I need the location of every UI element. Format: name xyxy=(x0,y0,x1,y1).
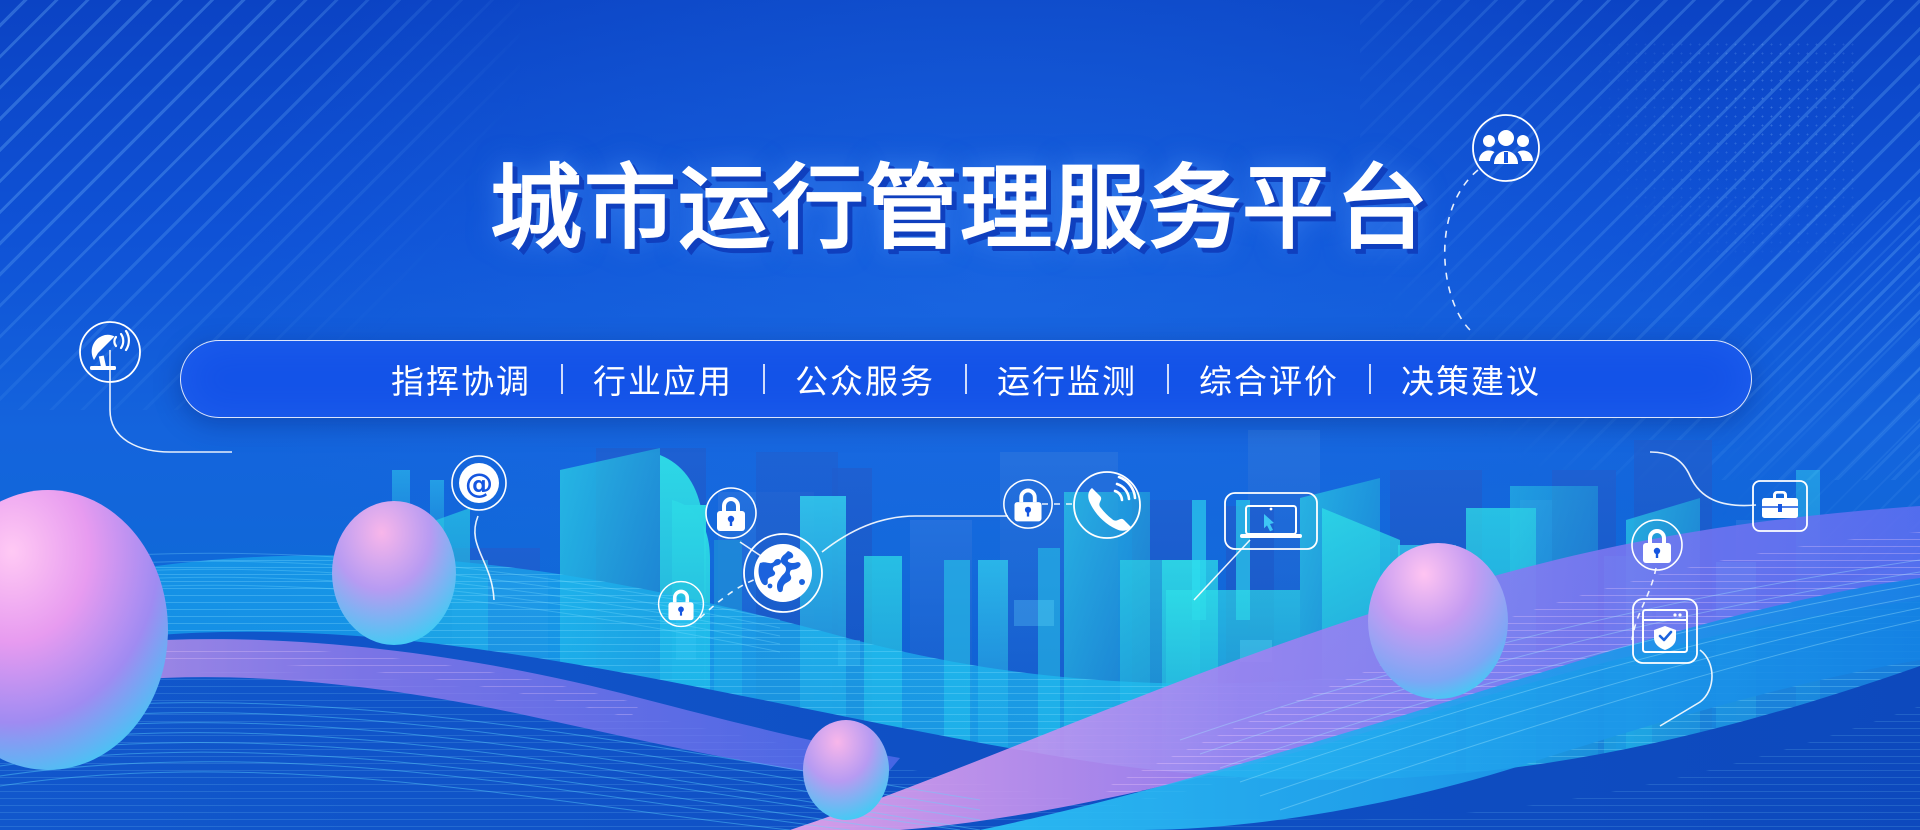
nav-item-gongzhongfuwu[interactable]: 公众服务 xyxy=(765,355,965,403)
page-title: 城市运行管理服务平台 xyxy=(490,158,1430,259)
nav-item-zhihuixietiao[interactable]: 指挥协调 xyxy=(361,355,561,403)
lock-icon-2[interactable] xyxy=(655,578,707,630)
browser-shield-icon[interactable] xyxy=(1632,598,1698,664)
nav-item-juecejianyi[interactable]: 决策建议 xyxy=(1371,355,1571,403)
laptop-cursor-icon[interactable] xyxy=(1224,492,1318,550)
page-title-wrapper: 城市运行管理服务平台 xyxy=(0,158,1920,259)
main-navigation[interactable]: 指挥协调 行业应用 公众服务 运行监测 综合评价 决策建议 xyxy=(180,340,1752,418)
at-sign-icon[interactable]: @ xyxy=(448,452,510,514)
city-platform-banner: @ xyxy=(0,0,1920,830)
nav-item-zongheyingjia[interactable]: 综合评价 xyxy=(1169,355,1369,403)
svg-text:@: @ xyxy=(465,467,493,500)
briefcase-icon[interactable] xyxy=(1752,480,1808,532)
nav-item-yunxingjiance[interactable]: 运行监测 xyxy=(967,355,1167,403)
connector-at xyxy=(475,516,494,600)
lock-icon-4[interactable] xyxy=(1628,516,1686,574)
connector-globe-right xyxy=(822,516,1008,552)
connector-briefcase xyxy=(1650,452,1756,506)
phone-call-icon[interactable] xyxy=(1068,466,1146,544)
lock-icon-3[interactable] xyxy=(1000,476,1056,532)
globe-icon[interactable] xyxy=(740,530,826,616)
nav-item-hangyeyingyong[interactable]: 行业应用 xyxy=(563,355,763,403)
satellite-dish-icon[interactable] xyxy=(74,316,146,388)
